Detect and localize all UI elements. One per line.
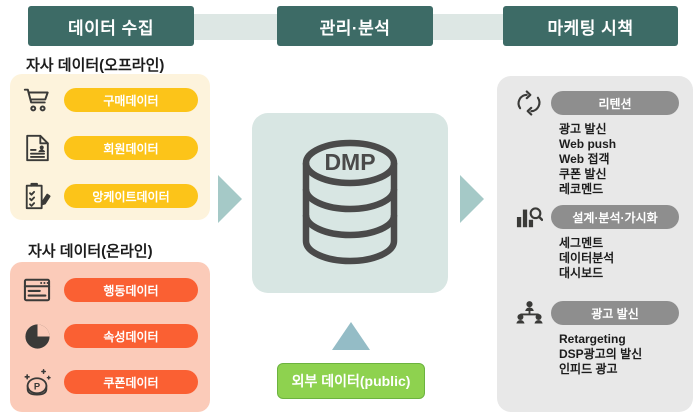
network-people-icon (507, 300, 551, 327)
outcome-title-analysis: 설계·분석·가시화 (551, 205, 679, 229)
source-row-coupon: P 쿠폰데이터 (10, 360, 210, 404)
outcome-header: 리텐션 (497, 88, 693, 118)
outcome-title-advertising: 광고 발신 (551, 301, 679, 325)
outcome-group-analysis: 설계·분석·가시화 세그멘트 데이터분석 대시보드 (497, 202, 693, 281)
member-document-icon (10, 133, 64, 163)
external-data-arrow-up (332, 322, 370, 350)
outcome-header: 광고 발신 (497, 298, 693, 328)
outcome-items-retention: 광고 발신 Web push Web 접객 쿠폰 발신 레코멘드 (497, 122, 693, 197)
outcome-item: 대시보드 (559, 266, 693, 281)
step-label: 관리·분석 (320, 14, 391, 39)
outcome-item: 레코멘드 (559, 182, 693, 197)
outcome-item: 세그멘트 (559, 236, 693, 251)
outcome-item: 광고 발신 (559, 122, 693, 137)
online-source-panel: 행동데이터 속성데이터 P 쿠 (10, 262, 210, 412)
database-cylinder-icon: DMP (292, 137, 408, 269)
pie-chart-icon (10, 322, 64, 351)
source-row-survey: 앙케이트데이터 (10, 174, 210, 218)
flow-arrow-right (460, 175, 484, 223)
outcome-item: Web 접객 (559, 152, 693, 167)
outcome-group-advertising: 광고 발신 Retargeting DSP광고의 발신 인피드 광고 (497, 298, 693, 377)
point-coin-icon: P (10, 367, 64, 397)
outcome-item: 인피드 광고 (559, 362, 693, 377)
dmp-label: DMP (324, 149, 375, 175)
outcome-group-retention: 리텐션 광고 발신 Web push Web 접객 쿠폰 발신 레코멘드 (497, 88, 693, 197)
outcome-header: 설계·분석·가시화 (497, 202, 693, 232)
source-pill-purchase: 구매데이터 (64, 88, 198, 112)
diagram-canvas: 데이터 수집 관리·분석 마케팅 시책 자사 데이터(오프라인) 구매데이터 (0, 0, 700, 420)
source-row-behavior: 행동데이터 (10, 268, 210, 312)
source-row-attribute: 속성데이터 (10, 314, 210, 358)
source-pill-behavior: 행동데이터 (64, 278, 198, 302)
outcome-items-analysis: 세그멘트 데이터분석 대시보드 (497, 236, 693, 281)
outcome-item: Web push (559, 137, 693, 152)
outcomes-panel: 리텐션 광고 발신 Web push Web 접객 쿠폰 발신 레코멘드 (497, 76, 693, 412)
external-data-label: 외부 데이터(public) (292, 371, 411, 391)
browser-window-icon (10, 277, 64, 303)
clipboard-survey-icon (10, 181, 64, 211)
step-label: 데이터 수집 (68, 14, 154, 39)
offline-section-title: 자사 데이터(오프라인) (26, 54, 164, 75)
step-data-collection: 데이터 수집 (28, 6, 194, 46)
external-data-box: 외부 데이터(public) (277, 363, 425, 399)
shopping-cart-icon (10, 85, 64, 115)
flow-arrow-left (218, 175, 242, 223)
source-pill-survey: 앙케이트데이터 (64, 184, 198, 208)
step-manage-analysis: 관리·분석 (277, 6, 433, 46)
refresh-cycle-icon (507, 90, 551, 116)
outcome-item: DSP광고의 발신 (559, 347, 693, 362)
online-section-title: 자사 데이터(온라인) (28, 240, 153, 261)
source-pill-coupon: 쿠폰데이터 (64, 370, 198, 394)
outcome-items-advertising: Retargeting DSP광고의 발신 인피드 광고 (497, 332, 693, 377)
svg-text:P: P (34, 382, 40, 392)
source-pill-member: 회원데이터 (64, 136, 198, 160)
source-pill-attribute: 속성데이터 (64, 324, 198, 348)
outcome-item: Retargeting (559, 332, 693, 347)
outcome-title-retention: 리텐션 (551, 91, 679, 115)
offline-source-panel: 구매데이터 회원데이터 (10, 74, 210, 220)
dmp-panel: DMP (252, 113, 448, 293)
source-row-member: 회원데이터 (10, 126, 210, 170)
bar-chart-search-icon (507, 204, 551, 230)
outcome-item: 데이터분석 (559, 251, 693, 266)
step-label: 마케팅 시책 (548, 14, 634, 39)
step-marketing-measures: 마케팅 시책 (503, 6, 678, 46)
outcome-item: 쿠폰 발신 (559, 167, 693, 182)
source-row-purchase: 구매데이터 (10, 78, 210, 122)
